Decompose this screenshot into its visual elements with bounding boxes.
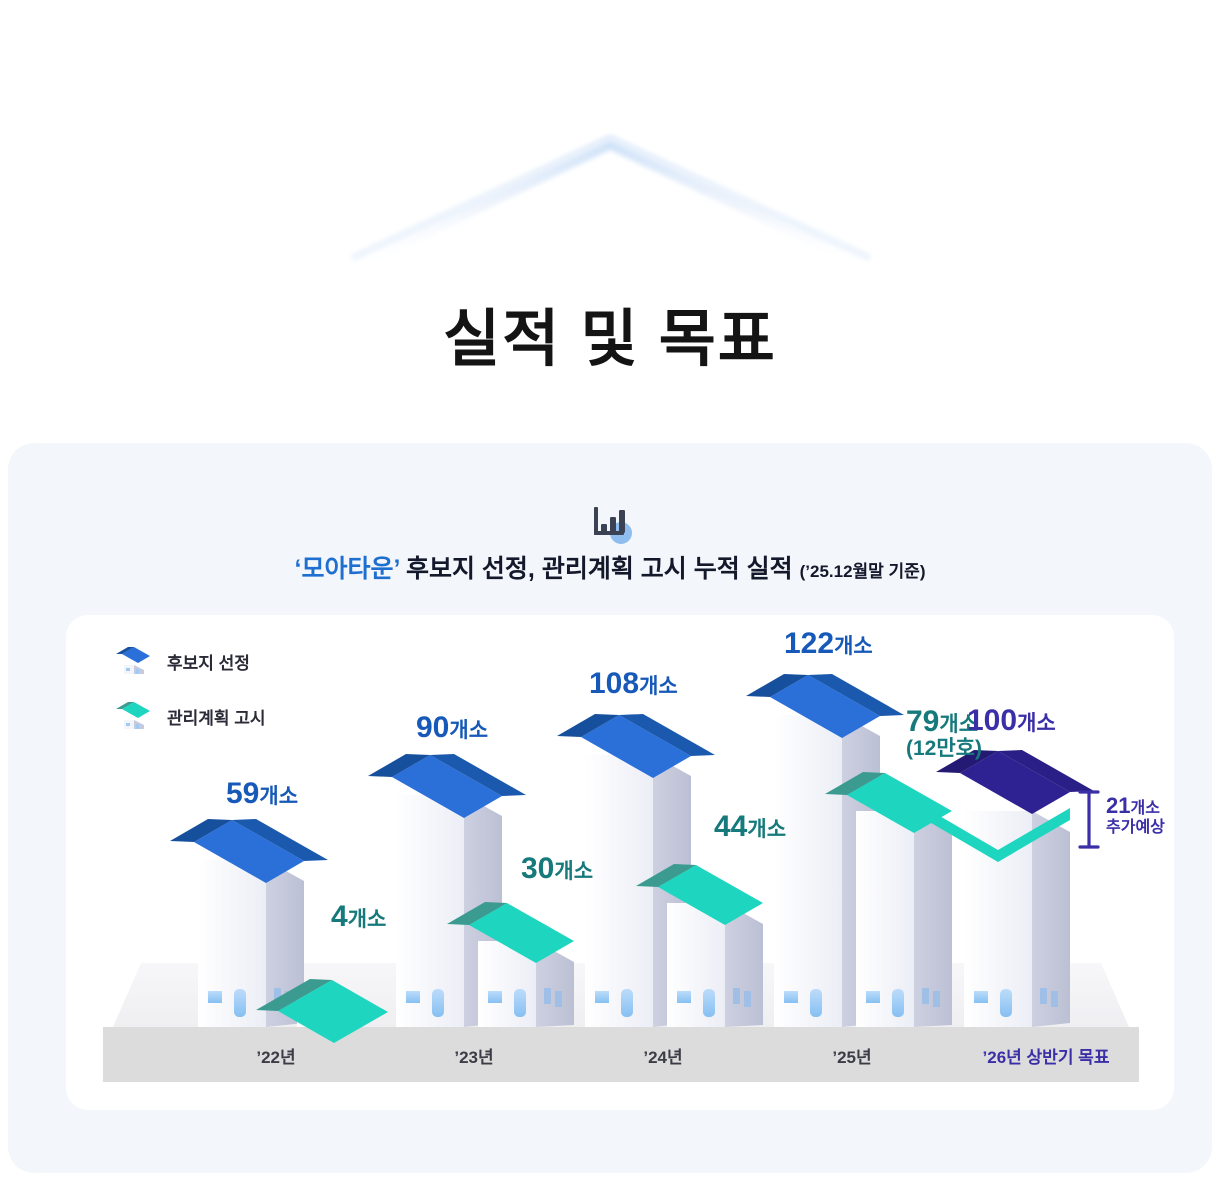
chart-subtitle: ‘모아타운’ 후보지 선정, 관리계획 고시 누적 실적 (’25.12월말 기…	[8, 549, 1212, 585]
chevron-roof-glow-icon	[0, 120, 1220, 300]
axis-label-layer: ’22년 ’23년 ’24년 ’25년 ’26년 상반기 목표	[66, 615, 1174, 1110]
axis-label-2026-target: ’26년 상반기 목표	[983, 1043, 1110, 1068]
chart-card: 후보지 선정 관리계획 고시	[66, 615, 1174, 1110]
chart-panel: ‘모아타운’ 후보지 선정, 관리계획 고시 누적 실적 (’25.12월말 기…	[8, 443, 1212, 1173]
axis-label-2023: ’23년	[454, 1043, 493, 1068]
axis-label-2025: ’25년	[832, 1043, 871, 1068]
bar-chart-icon	[586, 497, 634, 545]
page-title: 실적 및 목표	[0, 288, 1220, 378]
axis-label-2022: ’22년	[256, 1043, 295, 1068]
axis-label-2024: ’24년	[643, 1043, 682, 1068]
as-of-note: (’25.12월말 기준)	[800, 562, 926, 581]
brand-name: ‘모아타운’	[295, 555, 400, 583]
subtitle-rest: 후보지 선정, 관리계획 고시 누적 실적	[400, 555, 793, 583]
infographic-page: 실적 및 목표 ‘모아타운’ 후보지 선정, 관리계획 고시 누	[0, 0, 1220, 1181]
